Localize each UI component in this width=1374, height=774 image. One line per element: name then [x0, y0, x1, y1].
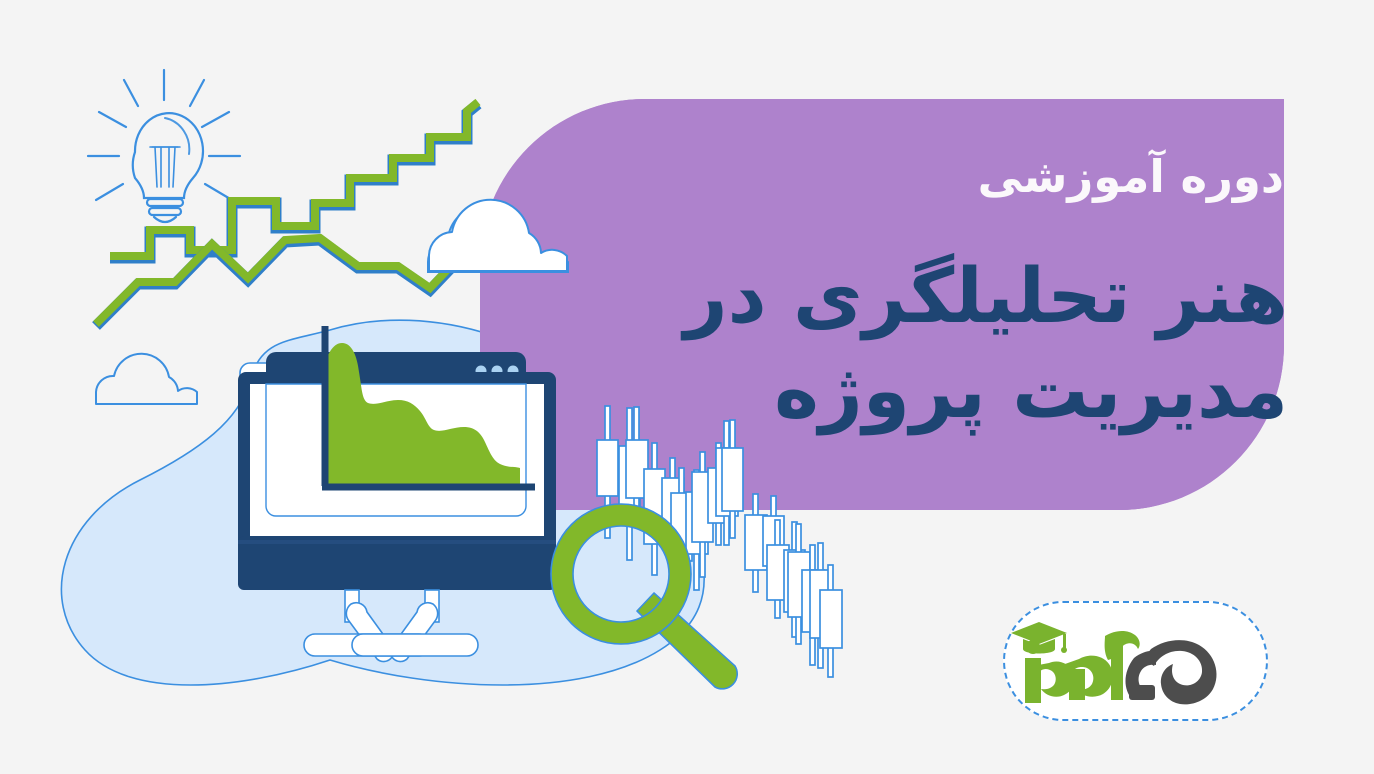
banner-canvas: دوره آموزشی هنر تحلیلگری در مدیریت پروژه — [0, 0, 1374, 774]
banner-illustration — [0, 0, 1374, 774]
